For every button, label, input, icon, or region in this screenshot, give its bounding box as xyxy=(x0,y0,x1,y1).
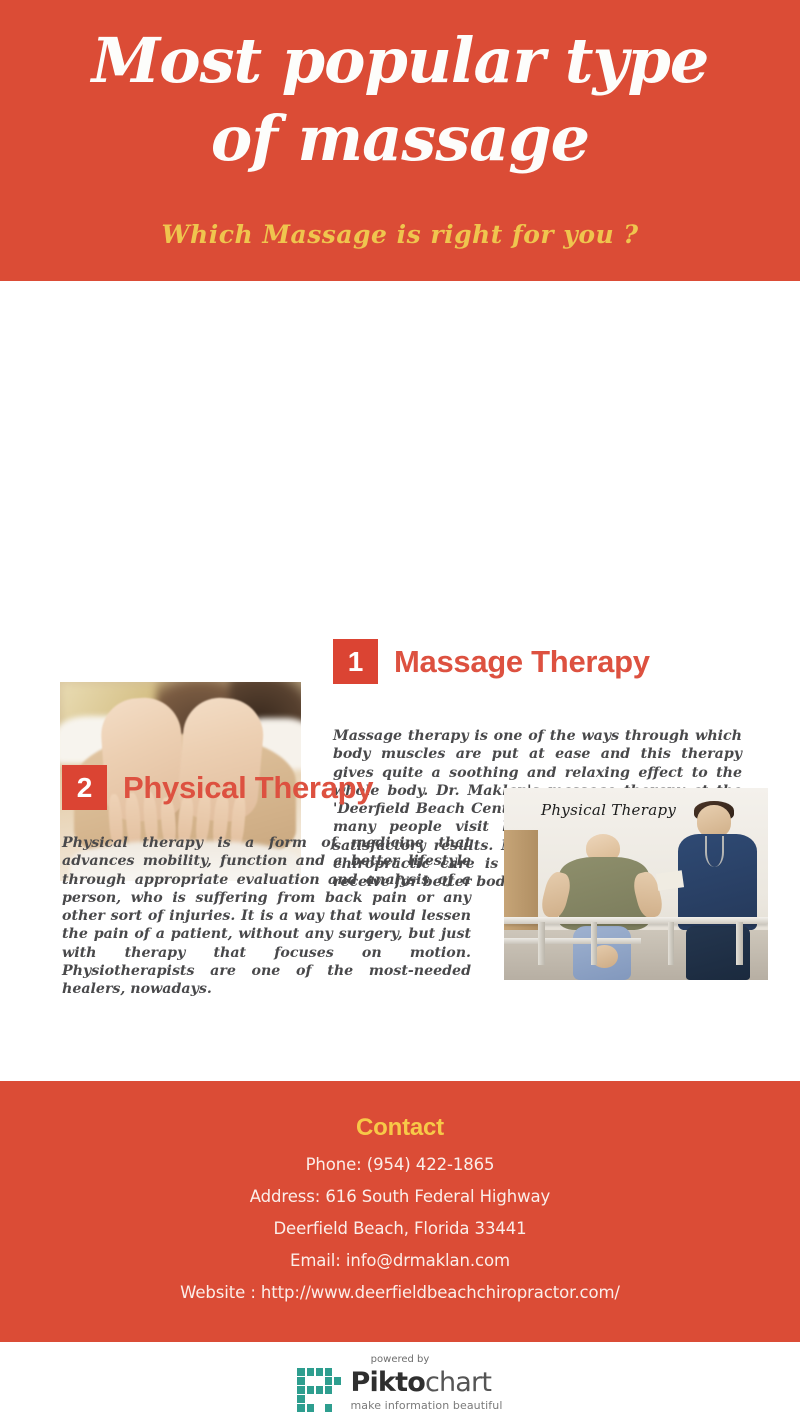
page-subtitle: Which Massage is right for you ? xyxy=(60,220,740,249)
section-massage-therapy: 1 Massage Therapy Massage therapy is one… xyxy=(0,281,800,751)
photo-bar-post-2 xyxy=(591,922,597,964)
piktochart-logo-icon xyxy=(297,1368,341,1412)
photo-door-frame xyxy=(504,830,538,941)
brand-name-bold: Pikto xyxy=(350,1367,424,1398)
header-banner: Most popular type of massage Which Massa… xyxy=(0,0,800,281)
piktochart-branding: powered by Piktochart make information b… xyxy=(0,1342,800,1424)
physical-therapy-image: Physical Therapy xyxy=(504,788,768,980)
contact-address-street: Address: 616 South Federal Highway xyxy=(0,1181,800,1213)
photo-bar-post-4 xyxy=(736,922,742,964)
brand-tagline: make information beautiful xyxy=(350,1399,502,1412)
section-2-heading: 2 Physical Therapy xyxy=(62,765,373,810)
photo-bar-post-3 xyxy=(668,922,674,964)
section-number-badge: 1 xyxy=(333,639,378,684)
section-title: Massage Therapy xyxy=(394,644,650,680)
powered-by-label: powered by xyxy=(0,1354,800,1365)
contact-heading: Contact xyxy=(0,1114,800,1142)
section-2-body-text: Physical therapy is a form of medicine t… xyxy=(62,834,471,999)
photo-bar-post-1 xyxy=(538,922,544,964)
section-number-badge: 2 xyxy=(62,765,107,810)
contact-details-list: Phone: (954) 422-1865 Address: 616 South… xyxy=(0,1149,800,1309)
section-1-heading: 1 Massage Therapy xyxy=(333,639,650,684)
contact-website[interactable]: Website : http://www.deerfieldbeachchiro… xyxy=(0,1277,800,1309)
photo-parallel-bar-back xyxy=(504,938,641,944)
brand-name: Piktochart xyxy=(350,1368,502,1398)
section-title: Physical Therapy xyxy=(123,770,373,806)
contact-phone: Phone: (954) 422-1865 xyxy=(0,1149,800,1181)
brand-name-light: chart xyxy=(425,1367,491,1398)
brand-wordmark: Piktochart make information beautiful xyxy=(350,1368,502,1412)
page-title: Most popular type of massage xyxy=(60,22,740,178)
contact-address-city: Deerfield Beach, Florida 33441 xyxy=(0,1213,800,1245)
brand-logo-row[interactable]: Piktochart make information beautiful xyxy=(0,1368,800,1412)
section-physical-therapy: 2 Physical Therapy Physical therapy is a… xyxy=(0,751,800,1081)
photo-lanyard xyxy=(705,836,725,867)
contact-footer: Contact Phone: (954) 422-1865 Address: 6… xyxy=(0,1081,800,1342)
photo-therapist-head xyxy=(697,805,731,838)
infographic-page: Most popular type of massage Which Massa… xyxy=(0,0,800,1424)
photo-caption-physical-therapy: Physical Therapy xyxy=(541,801,676,819)
contact-email[interactable]: Email: info@drmaklan.com xyxy=(0,1245,800,1277)
